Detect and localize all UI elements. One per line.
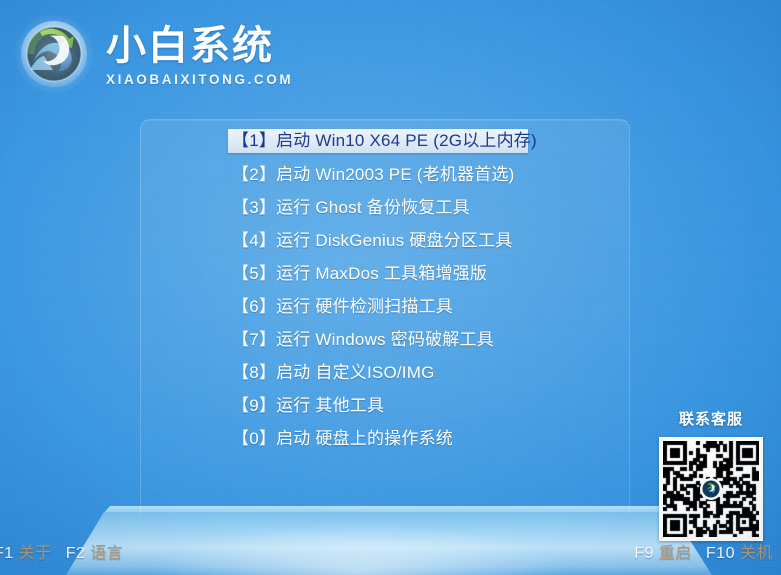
hotkeys-left: F1关于F2语言 (0, 539, 123, 563)
qr-logo-svg (702, 480, 720, 498)
boot-menu-item-label: 运行 硬件检测扫描工具 (276, 297, 453, 316)
boot-menu-item-10[interactable]: 【0】启动 硬盘上的操作系统 (228, 428, 530, 450)
boot-menu-item-key: 【4】 (232, 231, 276, 250)
boot-menu-item-key: 【6】 (232, 297, 276, 316)
hotkey-f9-key: F9 (634, 545, 654, 562)
hotkey-f2-label[interactable]: 语言 (90, 545, 123, 562)
hotkey-f10-label[interactable]: 关机 (740, 545, 773, 562)
boot-menu-item-label: 启动 Win10 X64 PE (2G以上内存) (276, 131, 537, 150)
brand-name-en: XIAOBAIXITONG.COM (106, 73, 293, 87)
boot-menu-item-6[interactable]: 【6】运行 硬件检测扫描工具 (228, 296, 530, 318)
boot-menu-item-9[interactable]: 【9】运行 其他工具 (228, 395, 530, 417)
boot-menu-item-label: 启动 自定义ISO/IMG (276, 363, 434, 382)
qr-center-logo-icon (700, 478, 722, 500)
boot-menu-list: 【1】启动 Win10 X64 PE (2G以上内存)【2】启动 Win2003… (228, 129, 530, 461)
boot-menu-item-7[interactable]: 【7】运行 Windows 密码破解工具 (228, 329, 530, 351)
hotkey-f2-key: F2 (66, 545, 86, 562)
customer-support-block: 联系客服 (653, 408, 769, 541)
support-title: 联系客服 (653, 408, 769, 429)
boot-menu-item-key: 【2】 (232, 165, 276, 184)
boot-menu-item-label: 运行 其他工具 (276, 396, 384, 415)
boot-menu-item-key: 【3】 (232, 198, 276, 217)
boot-menu-item-5[interactable]: 【5】运行 MaxDos 工具箱增强版 (228, 263, 530, 285)
hotkey-f10-key: F10 (706, 545, 735, 562)
boot-menu-item-label: 运行 DiskGenius 硬盘分区工具 (276, 231, 512, 250)
boot-menu-item-key: 【8】 (232, 363, 276, 382)
boot-menu-item-label: 运行 Windows 密码破解工具 (276, 330, 494, 349)
boot-menu-item-3[interactable]: 【3】运行 Ghost 备份恢复工具 (228, 197, 530, 219)
brand-text: 小白系统 XIAOBAIXITONG.COM (106, 26, 293, 87)
boot-menu-item-1[interactable]: 【1】启动 Win10 X64 PE (2G以上内存) (228, 129, 528, 153)
boot-menu-item-2[interactable]: 【2】启动 Win2003 PE (老机器首选) (228, 164, 530, 186)
hotkey-f1-label[interactable]: 关于 (19, 545, 52, 562)
boot-menu-item-label: 启动 Win2003 PE (老机器首选) (276, 165, 514, 184)
hotkeys-right: F9重启F10关机 (634, 539, 773, 563)
boot-menu-item-label: 运行 Ghost 备份恢复工具 (276, 198, 470, 217)
brand-name-cn: 小白系统 (106, 26, 293, 66)
boot-menu-item-key: 【1】 (232, 131, 276, 150)
boot-menu-item-4[interactable]: 【4】运行 DiskGenius 硬盘分区工具 (228, 230, 530, 252)
boot-menu-item-8[interactable]: 【8】启动 自定义ISO/IMG (228, 362, 530, 384)
boot-menu-screen: 小白系统 XIAOBAIXITONG.COM 【1】启动 Win10 X64 P… (0, 0, 781, 575)
brand-header: 小白系统 XIAOBAIXITONG.COM (14, 14, 293, 94)
boot-menu-item-label: 启动 硬盘上的操作系统 (276, 429, 453, 448)
boot-menu-item-key: 【7】 (232, 330, 276, 349)
hotkey-f1-key: F1 (0, 545, 14, 562)
boot-menu-item-key: 【0】 (232, 429, 276, 448)
recycle-globe-logo-icon (14, 14, 94, 94)
logo-glow (14, 14, 94, 94)
boot-menu-item-key: 【5】 (232, 264, 276, 283)
boot-menu-item-key: 【9】 (232, 396, 276, 415)
hotkey-f9-label[interactable]: 重启 (659, 545, 692, 562)
boot-menu-item-label: 运行 MaxDos 工具箱增强版 (276, 264, 487, 283)
qr-code-icon[interactable] (659, 437, 763, 541)
